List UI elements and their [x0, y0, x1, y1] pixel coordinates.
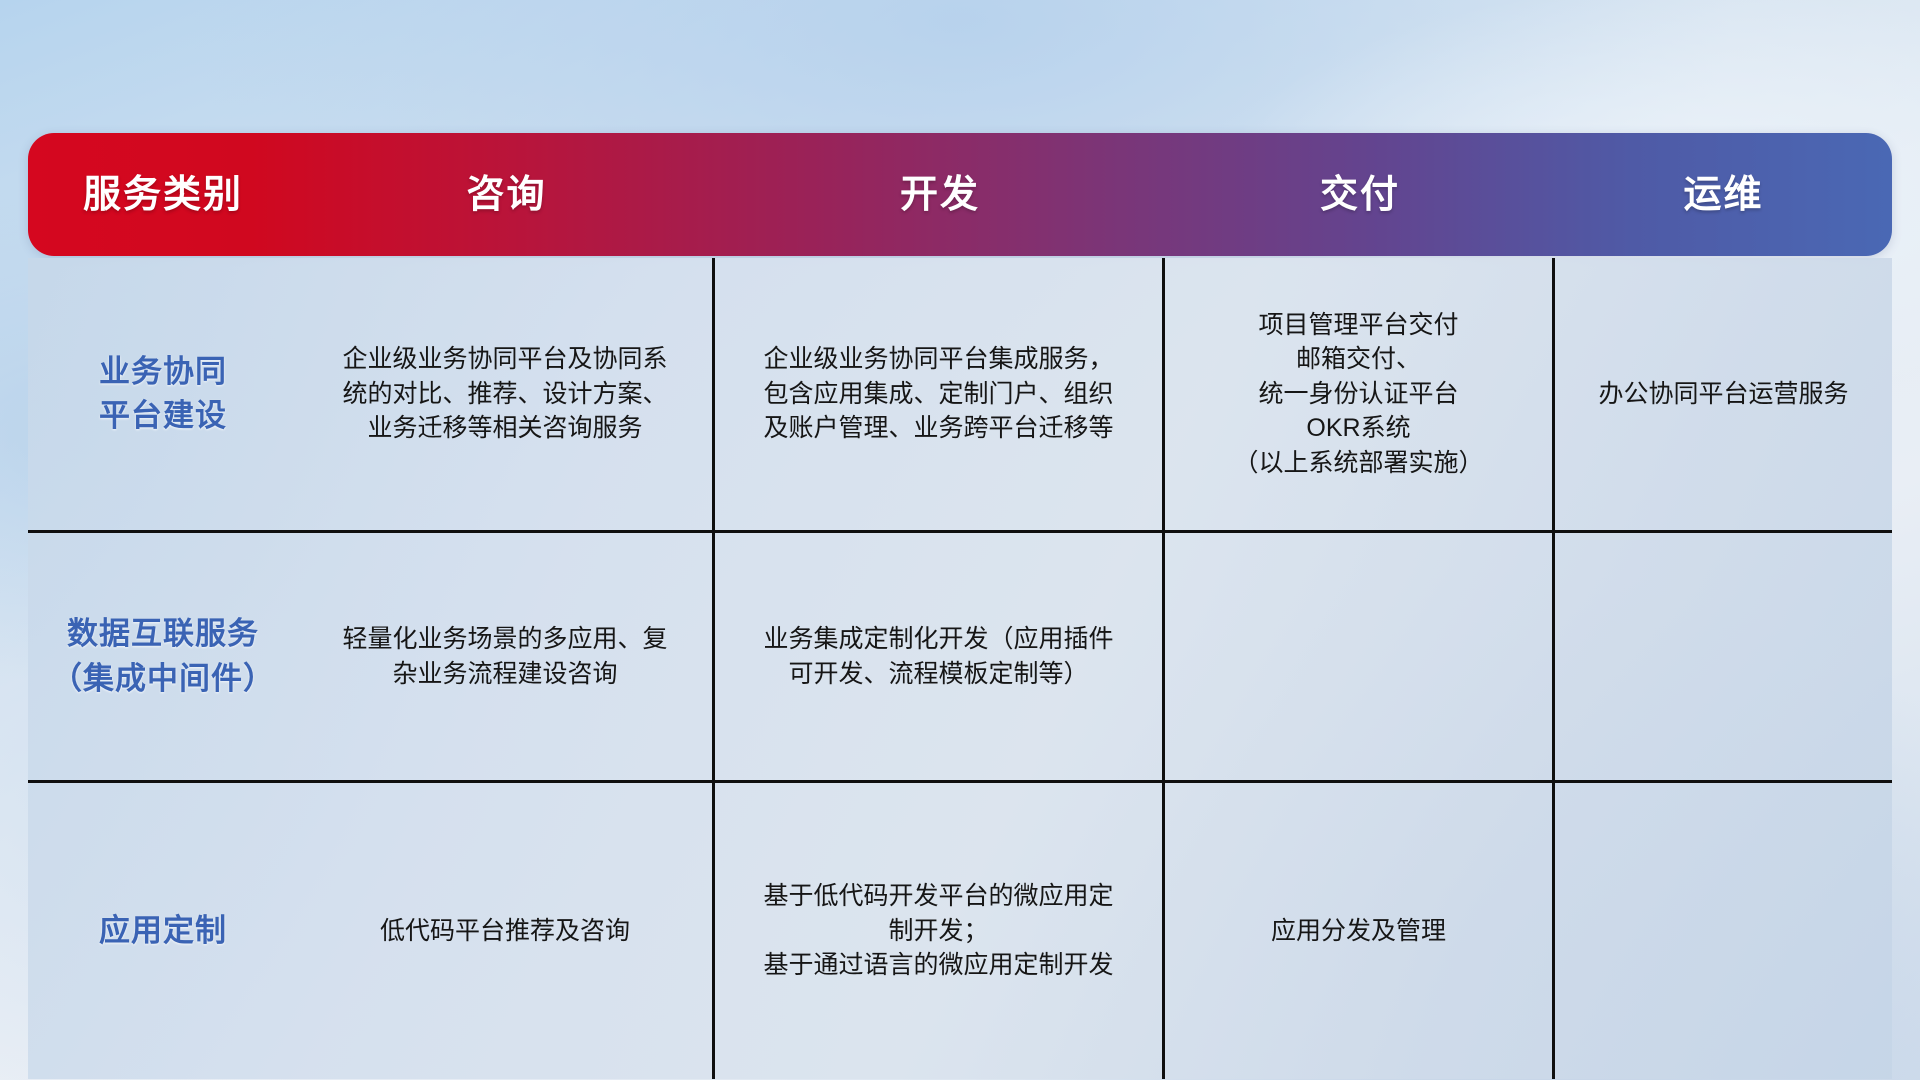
cell-development: 基于低代码开发平台的微应用定 制开发； 基于通过语言的微应用定制开发 [715, 783, 1165, 1079]
column-header-category: 服务类别 [28, 176, 298, 214]
cell-consulting: 企业级业务协同平台及协同系 统的对比、推荐、设计方案、 业务迁移等相关咨询服务 [298, 258, 715, 530]
cell-consulting: 低代码平台推荐及咨询 [298, 783, 715, 1079]
cell-delivery: 项目管理平台交付 邮箱交付、 统一身份认证平台 OKR系统 （以上系统部署实施） [1165, 258, 1555, 530]
cell-category: 应用定制 [28, 783, 298, 1079]
cell-operations [1555, 533, 1892, 780]
cell-development: 企业级业务协同平台集成服务， 包含应用集成、定制门户、组织 及账户管理、业务跨平… [715, 258, 1165, 530]
table-row: 业务协同 平台建设 企业级业务协同平台及协同系 统的对比、推荐、设计方案、 业务… [28, 258, 1892, 530]
cell-consulting: 轻量化业务场景的多应用、复 杂业务流程建设咨询 [298, 533, 715, 780]
cell-delivery: 应用分发及管理 [1165, 783, 1555, 1079]
cell-category: 数据互联服务 （集成中间件） [28, 533, 298, 780]
service-matrix-table: 服务类别 咨询 开发 交付 运维 业务协同 平台建设 企业级业务协同平台及协同系… [28, 133, 1892, 953]
column-header-operations: 运维 [1555, 176, 1892, 214]
cell-category: 业务协同 平台建设 [28, 258, 298, 530]
cell-development: 业务集成定制化开发（应用插件 可开发、流程模板定制等） [715, 533, 1165, 780]
cell-operations [1555, 783, 1892, 1079]
column-header-consulting: 咨询 [298, 176, 715, 214]
table-header-row: 服务类别 咨询 开发 交付 运维 [28, 133, 1892, 256]
cell-delivery [1165, 533, 1555, 780]
column-header-delivery: 交付 [1165, 176, 1555, 214]
cell-operations: 办公协同平台运营服务 [1555, 258, 1892, 530]
table-row: 应用定制 低代码平台推荐及咨询 基于低代码开发平台的微应用定 制开发； 基于通过… [28, 780, 1892, 1079]
column-header-development: 开发 [715, 176, 1165, 214]
table-row: 数据互联服务 （集成中间件） 轻量化业务场景的多应用、复 杂业务流程建设咨询 业… [28, 530, 1892, 780]
table-body: 业务协同 平台建设 企业级业务协同平台及协同系 统的对比、推荐、设计方案、 业务… [28, 258, 1892, 1079]
